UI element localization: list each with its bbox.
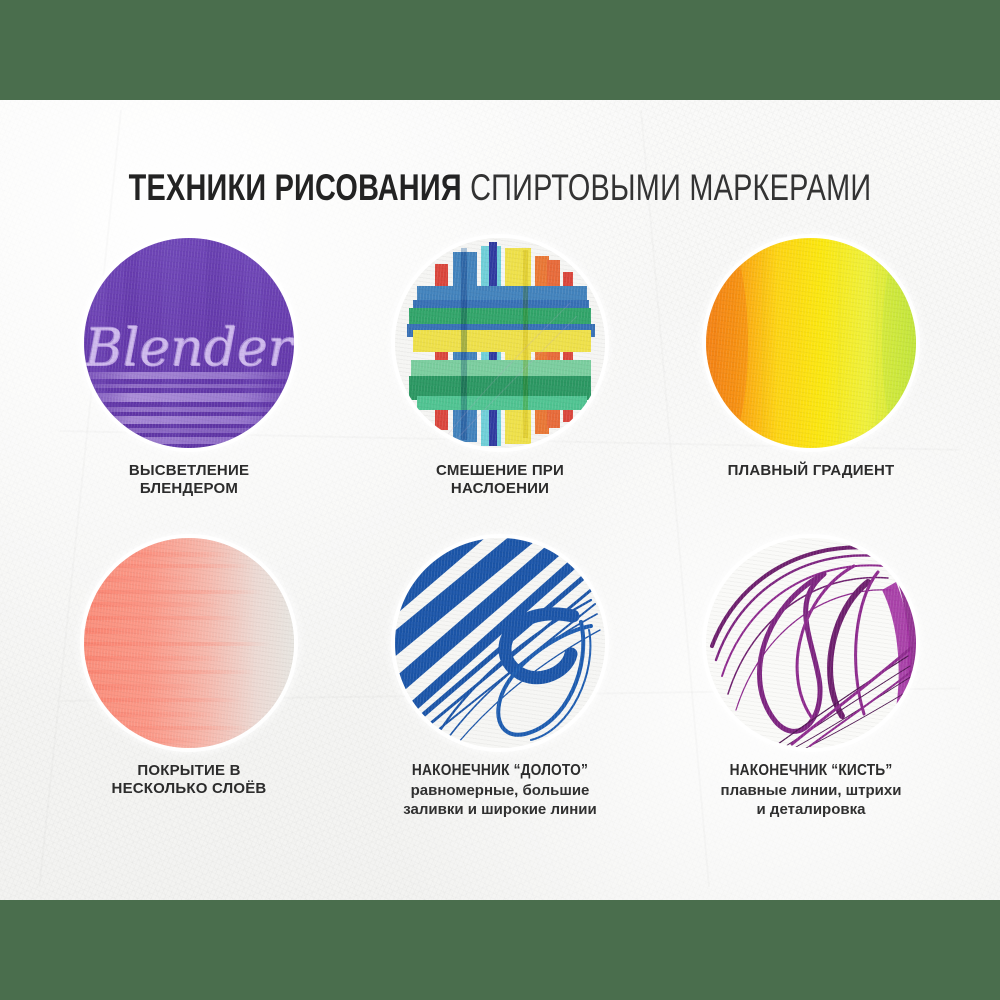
caption-heading: ПЛАВНЫЙ ГРАДИЕНТ	[644, 462, 978, 480]
swatch-brush	[706, 538, 916, 748]
crosshatch-artwork	[395, 238, 605, 448]
band-top	[0, 0, 1000, 100]
gradient-artwork	[706, 238, 916, 448]
swatch-wrap	[395, 238, 605, 448]
caption: ПЛАВНЫЙ ГРАДИЕНТ	[644, 462, 978, 480]
svg-text:Blender: Blender	[84, 318, 294, 378]
poster: ТЕХНИКИ РИСОВАНИЯ СПИРТОВЫМИ МАРКЕРАМИ	[0, 0, 1000, 1000]
swatch-wrap	[706, 538, 916, 748]
caption-heading: ПОКРЫТИЕ В НЕСКОЛЬКО СЛОЁВ	[22, 762, 356, 798]
layers-artwork	[84, 538, 294, 748]
chisel-artwork	[395, 538, 605, 748]
card-chisel-nib[interactable]: НАКОНЕЧНИК “ДОЛОТО” равномерные, большие…	[333, 538, 667, 819]
swatch-crosshatch	[395, 238, 605, 448]
paper-background	[0, 0, 1000, 1000]
card-blender-lightening[interactable]: Blender Blender ВЫСВЕТЛЕНИЕ БЛЕНДЕРОМ	[22, 238, 356, 499]
page-title: ТЕХНИКИ РИСОВАНИЯ СПИРТОВЫМИ МАРКЕРАМИ	[110, 168, 890, 208]
caption: НАКОНЕЧНИК “КИСТЬ” плавные линии, штрихи…	[644, 762, 978, 819]
page-title-light: СПИРТОВЫМИ МАРКЕРАМИ	[470, 167, 871, 208]
caption: ПОКРЫТИЕ В НЕСКОЛЬКО СЛОЁВ	[22, 762, 356, 798]
caption-heading: ВЫСВЕТЛЕНИЕ БЛЕНДЕРОМ	[22, 462, 356, 498]
swatch-gradient	[706, 238, 916, 448]
caption-heading: НАКОНЕЧНИК “КИСТЬ”	[667, 762, 954, 780]
caption-subtext: равномерные, большие заливки и широкие л…	[333, 781, 667, 819]
blender-artwork: Blender Blender	[84, 238, 294, 448]
band-bottom	[0, 900, 1000, 1000]
caption-heading: НАКОНЕЧНИК “ДОЛОТО”	[356, 762, 643, 780]
card-layered-blending[interactable]: СМЕШЕНИЕ ПРИ НАСЛОЕНИИ	[333, 238, 667, 499]
swatch-wrap	[395, 538, 605, 748]
caption: СМЕШЕНИЕ ПРИ НАСЛОЕНИИ	[333, 462, 667, 498]
page-title-bold: ТЕХНИКИ РИСОВАНИЯ	[129, 167, 462, 208]
card-multiple-layers[interactable]: ПОКРЫТИЕ В НЕСКОЛЬКО СЛОЁВ	[22, 538, 356, 799]
caption: ВЫСВЕТЛЕНИЕ БЛЕНДЕРОМ	[22, 462, 356, 498]
swatch-wrap	[706, 238, 916, 448]
swatch-chisel	[395, 538, 605, 748]
swatch-wrap	[84, 538, 294, 748]
card-brush-nib[interactable]: НАКОНЕЧНИК “КИСТЬ” плавные линии, штрихи…	[644, 538, 978, 819]
caption-subtext: плавные линии, штрихи и деталировка	[644, 781, 978, 819]
caption: НАКОНЕЧНИК “ДОЛОТО” равномерные, большие…	[333, 762, 667, 819]
caption-heading: СМЕШЕНИЕ ПРИ НАСЛОЕНИИ	[333, 462, 667, 498]
card-smooth-gradient[interactable]: ПЛАВНЫЙ ГРАДИЕНТ	[644, 238, 978, 481]
brush-artwork	[706, 538, 916, 748]
swatch-blender: Blender Blender	[84, 238, 294, 448]
swatch-layers	[84, 538, 294, 748]
swatch-wrap: Blender Blender	[84, 238, 294, 448]
